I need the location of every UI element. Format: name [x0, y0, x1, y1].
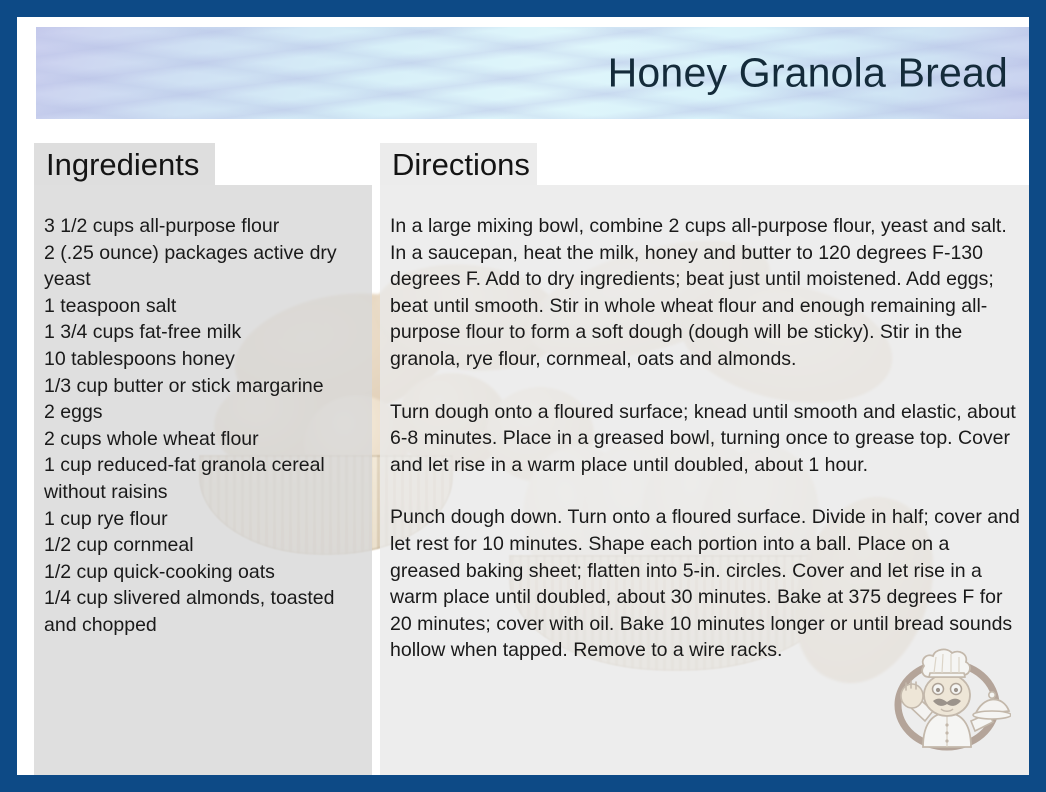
list-item: 1 teaspoon salt	[44, 293, 362, 320]
list-item: 1 3/4 cups fat-free milk	[44, 319, 362, 346]
list-item: 2 cups whole wheat flour	[44, 426, 362, 453]
header-banner: Honey Granola Bread	[36, 27, 1030, 119]
list-item: 1/4 cup slivered almonds, toasted and ch…	[44, 585, 362, 638]
list-item: 1 cup reduced-fat granola cereal without…	[44, 452, 362, 505]
list-item: 10 tablespoons honey	[44, 346, 362, 373]
ingredients-heading-label: Ingredients	[46, 149, 199, 180]
directions-heading: Directions	[380, 143, 537, 185]
chef-mascot-logo	[889, 643, 1011, 755]
directions-heading-label: Directions	[392, 149, 530, 180]
list-item: 1/2 cup quick-cooking oats	[44, 559, 362, 586]
page-title: Honey Granola Bread	[608, 53, 1008, 94]
ingredients-body: 3 1/2 cups all-purpose flour 2 (.25 ounc…	[34, 185, 372, 639]
list-item: 2 eggs	[44, 399, 362, 426]
direction-step: In a large mixing bowl, combine 2 cups a…	[390, 213, 1036, 373]
directions-body: In a large mixing bowl, combine 2 cups a…	[380, 185, 1046, 664]
list-item: 1/2 cup cornmeal	[44, 532, 362, 559]
directions-paragraphs: In a large mixing bowl, combine 2 cups a…	[390, 213, 1036, 664]
list-item: 1 cup rye flour	[44, 506, 362, 533]
list-item: 2 (.25 ounce) packages active dry yeast	[44, 240, 362, 293]
list-item: 1/3 cup butter or stick margarine	[44, 373, 362, 400]
recipe-card: Honey Granola Bread	[0, 0, 1046, 792]
ingredients-list: 3 1/2 cups all-purpose flour 2 (.25 ounc…	[44, 213, 362, 639]
list-item: 3 1/2 cups all-purpose flour	[44, 213, 362, 240]
direction-step: Punch dough down. Turn onto a floured su…	[390, 504, 1036, 664]
direction-step: Turn dough onto a floured surface; knead…	[390, 399, 1036, 479]
ingredients-heading: Ingredients	[34, 143, 215, 185]
ingredients-panel: 3 1/2 cups all-purpose flour 2 (.25 ounc…	[34, 185, 372, 792]
